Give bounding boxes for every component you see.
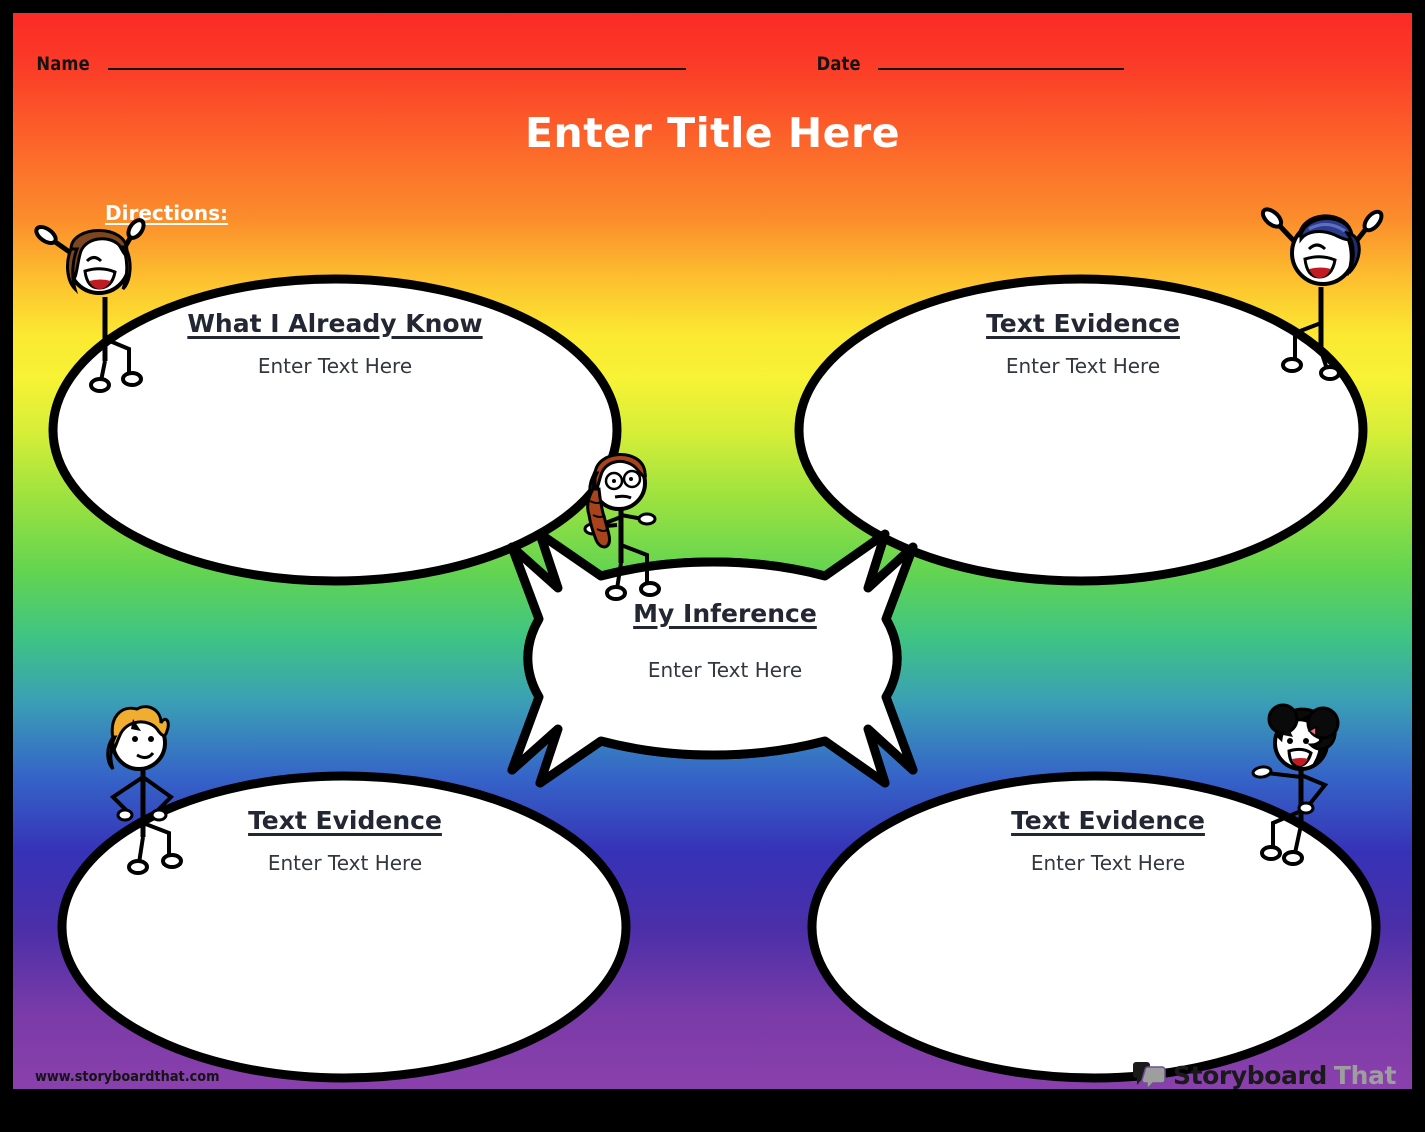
graphic-organizer [13, 13, 1412, 1089]
logo-text-that: That [1334, 1061, 1396, 1089]
storyboardthat-logo[interactable]: Storyboard That [1132, 1061, 1396, 1089]
bubble-text-evidence-bottom-right[interactable] [812, 776, 1376, 1078]
worksheet-frame: Name Date Enter Title Here Directions: [0, 0, 1425, 1132]
my-inference-bubble-outline [512, 534, 913, 783]
footer-website-url[interactable]: www.storyboardthat.com [35, 1069, 220, 1085]
speech-bubbles-icon [1132, 1062, 1166, 1090]
bubble-what-i-already-know[interactable] [53, 279, 617, 581]
bubble-text-evidence-bottom-left[interactable] [62, 776, 626, 1078]
worksheet-canvas: Name Date Enter Title Here Directions: [13, 13, 1412, 1089]
logo-text-storyboard: Storyboard [1173, 1061, 1327, 1089]
